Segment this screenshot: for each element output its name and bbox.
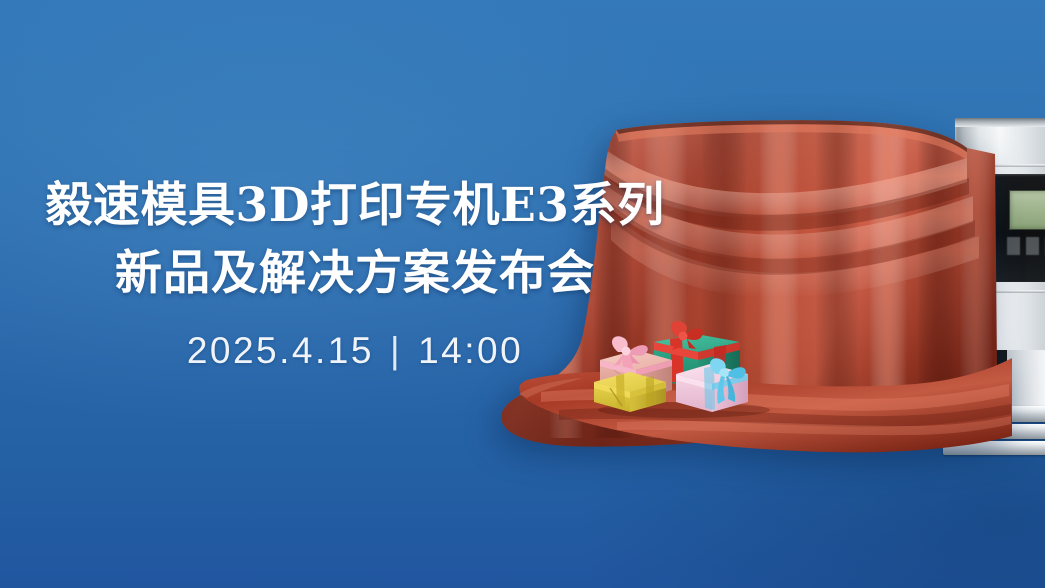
datetime-separator: | bbox=[374, 330, 418, 372]
event-datetime: 2025.4.15|14:00 bbox=[0, 330, 710, 372]
event-poster: 毅速模具3D打印专机E3系列 新品及解决方案发布会 2025.4.15|14:0… bbox=[0, 0, 1045, 588]
page-title-line-2: 新品及解决方案发布会 bbox=[0, 240, 710, 308]
poster-text-block: 毅速模具3D打印专机E3系列 新品及解决方案发布会 2025.4.15|14:0… bbox=[0, 172, 710, 372]
event-time: 14:00 bbox=[418, 330, 523, 371]
page-title-line-1: 毅速模具3D打印专机E3系列 bbox=[0, 172, 710, 240]
event-date: 2025.4.15 bbox=[187, 330, 374, 371]
printer-keypad bbox=[1007, 237, 1045, 255]
printer-lcd-screen bbox=[1009, 190, 1045, 230]
